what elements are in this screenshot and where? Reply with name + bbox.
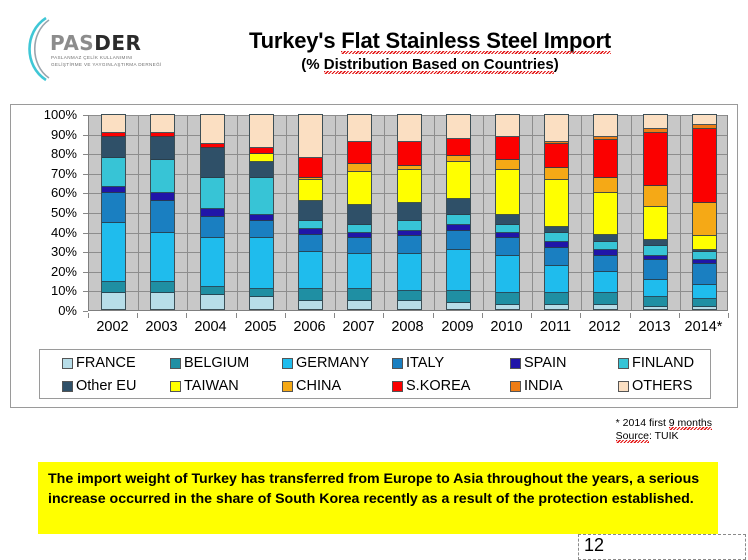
stacked-bar[interactable] [643, 114, 668, 310]
bar-segment [594, 115, 617, 137]
bar-segment [102, 193, 125, 222]
bar-segment [151, 201, 174, 232]
bar-segment [447, 215, 470, 225]
x-axis-tick-mark [236, 313, 237, 318]
plot-area [88, 115, 728, 311]
x-axis-tick-mark [531, 313, 532, 318]
bar-segment [348, 301, 371, 310]
bar-segment [299, 235, 322, 253]
stacked-bar[interactable] [249, 114, 274, 310]
stacked-bar[interactable] [495, 114, 520, 310]
bar-segment [299, 158, 322, 178]
bar-segment [299, 301, 322, 310]
legend-label: BELGIUM [184, 355, 249, 371]
bar-segment [151, 293, 174, 310]
legend-label: ITALY [406, 355, 444, 371]
bar-segment [151, 115, 174, 133]
x-axis-tick-mark [383, 313, 384, 318]
bar-segment [201, 178, 224, 209]
bar-segment [447, 303, 470, 310]
bar-segment [693, 203, 716, 236]
bar-segment [398, 203, 421, 221]
x-axis-tick-label: 2013 [630, 319, 679, 335]
footnote-spellcheck-source: Source [616, 430, 649, 442]
vertical-gridline [384, 116, 385, 310]
x-axis-tick-label: 2004 [186, 319, 235, 335]
logo-subtitle-line2: GELİŞTİRME VE YAYGINLAŞTIRMA DERNEĞİ [51, 62, 162, 67]
bar-segment [496, 115, 519, 137]
bar-segment [250, 221, 273, 239]
bar-segment [151, 160, 174, 193]
x-axis-tick-label: 2003 [137, 319, 186, 335]
y-axis-tick-mark [83, 311, 88, 312]
bar-segment [545, 293, 568, 305]
legend-swatch-icon [392, 358, 403, 369]
bar-segment [201, 295, 224, 310]
bar-segment [447, 231, 470, 251]
bar-segment [102, 115, 125, 133]
y-axis: 0%10%20%30%40%50%60%70%80%90%100% [21, 115, 83, 311]
bar-segment [594, 242, 617, 250]
bar-segment [250, 238, 273, 289]
legend-swatch-icon [62, 381, 73, 392]
stacked-bar[interactable] [101, 114, 126, 310]
legend-item-italy[interactable]: ITALY [392, 351, 444, 375]
legend-swatch-icon [510, 358, 521, 369]
vertical-gridline [434, 116, 435, 310]
bar-segment [348, 142, 371, 164]
legend-item-france[interactable]: FRANCE [62, 351, 136, 375]
y-axis-tick-label: 80% [51, 149, 77, 159]
bar-segment [398, 254, 421, 291]
bar-segment [594, 272, 617, 294]
bar-segment [594, 305, 617, 310]
bar-segment [496, 137, 519, 161]
bar-segment [201, 148, 224, 177]
stacked-bar[interactable] [200, 114, 225, 310]
bar-segment [693, 252, 716, 260]
legend-label: FINLAND [632, 355, 694, 371]
chart-legend: FRANCEBELGIUMGERMANYITALYSPAINFINLAND Ot… [39, 349, 711, 399]
bar-segment [545, 168, 568, 180]
bar-segment [348, 225, 371, 233]
bar-segment [447, 291, 470, 303]
stacked-bar[interactable] [544, 114, 569, 310]
logo-wordmark: PASDER [50, 31, 141, 55]
bar-segment [250, 178, 273, 215]
bar-segment [496, 293, 519, 305]
bar-segment [644, 260, 667, 280]
x-axis-tick-mark [679, 313, 680, 318]
legend-item-others[interactable]: OTHERS [618, 374, 692, 398]
page-subtitle: (% Distribution Based on Countries) [180, 56, 680, 73]
legend-swatch-icon [170, 358, 181, 369]
legend-row-2: Other EUTAIWANCHINAS.KOREAINDIAOTHERS [40, 374, 710, 398]
bar-segment [348, 238, 371, 254]
legend-label: CHINA [296, 378, 341, 394]
vertical-gridline [187, 116, 188, 310]
bar-segment [545, 144, 568, 168]
bar-segment [201, 115, 224, 144]
bar-segment [151, 137, 174, 161]
bar-segment [250, 297, 273, 310]
stacked-bar[interactable] [298, 114, 323, 310]
bar-segment [299, 221, 322, 229]
pasder-logo: PASDER PASLANMAZ ÇELİK KULLANIMINI GELİŞ… [18, 14, 178, 84]
x-axis-tick-mark [482, 313, 483, 318]
y-axis-tick-label: 50% [51, 208, 77, 218]
bar-segment [447, 250, 470, 291]
bar-segment [348, 205, 371, 225]
vertical-gridline [138, 116, 139, 310]
stacked-bar[interactable] [397, 114, 422, 310]
legend-label: INDIA [524, 378, 563, 394]
x-axis-tick-mark [88, 313, 89, 318]
plot-wrap: 0%10%20%30%40%50%60%70%80%90%100% 200220… [11, 109, 739, 339]
legend-swatch-icon [282, 358, 293, 369]
slide-header: PASDER PASLANMAZ ÇELİK KULLANIMINI GELİŞ… [0, 0, 748, 100]
bar-segment [545, 248, 568, 266]
bar-segment [299, 201, 322, 221]
bar-segment [201, 238, 224, 287]
bar-segment [693, 285, 716, 299]
bar-segment [250, 115, 273, 148]
bar-segment [348, 254, 371, 289]
bar-segment [151, 282, 174, 294]
x-axis-tick-mark [137, 313, 138, 318]
bar-segment [447, 199, 470, 215]
bar-segment [151, 193, 174, 201]
footnote-line-2: Source: TUIK [616, 430, 712, 443]
bar-segment [644, 133, 667, 186]
bar-segment [594, 178, 617, 194]
bar-segment [644, 280, 667, 298]
bar-segment [299, 180, 322, 202]
legend-item-finland[interactable]: FINLAND [618, 351, 694, 375]
bar-segment [693, 236, 716, 250]
x-axis: 2002200320042005200620072008200920102011… [88, 313, 728, 339]
vertical-gridline [631, 116, 632, 310]
bar-segment [250, 162, 273, 178]
bar-segment [693, 299, 716, 307]
logo-wordmark-pas: PAS [50, 31, 94, 55]
logo-subtitle-line1: PASLANMAZ ÇELİK KULLANIMINI [51, 55, 133, 60]
bar-segment [545, 305, 568, 310]
x-axis-tick-label: 2009 [433, 319, 482, 335]
bar-segment [398, 221, 421, 231]
bar-segment [644, 246, 667, 256]
bar-segment [496, 170, 519, 215]
bar-segment [545, 233, 568, 243]
legend-item-taiwan[interactable]: TAIWAN [170, 374, 239, 398]
bar-segment [398, 142, 421, 166]
legend-swatch-icon [282, 381, 293, 392]
bar-segment [348, 115, 371, 142]
legend-label: FRANCE [76, 355, 136, 371]
y-axis-tick-label: 40% [51, 228, 77, 238]
bar-segment [102, 137, 125, 159]
y-axis-tick-label: 100% [44, 110, 77, 120]
vertical-gridline [286, 116, 287, 310]
bar-segment [496, 225, 519, 233]
bar-segment [102, 282, 125, 294]
bar-segment [693, 264, 716, 286]
page-number: 12 [584, 535, 604, 556]
stacked-bar[interactable] [446, 114, 471, 310]
stacked-bar[interactable] [150, 114, 175, 310]
vertical-gridline [335, 116, 336, 310]
legend-label: GERMANY [296, 355, 369, 371]
bar-segment [644, 115, 667, 129]
vertical-gridline [581, 116, 582, 310]
x-axis-tick-mark [580, 313, 581, 318]
bar-segment [398, 170, 421, 203]
bar-segment [151, 233, 174, 282]
vertical-gridline [237, 116, 238, 310]
x-axis-tick-mark [186, 313, 187, 318]
bar-segment [398, 236, 421, 254]
bar-segment [545, 266, 568, 293]
bar-segment [496, 215, 519, 225]
x-axis-tick-label: 2005 [236, 319, 285, 335]
vertical-gridline [483, 116, 484, 310]
bar-segment [102, 293, 125, 310]
y-axis-tick-label: 70% [51, 169, 77, 179]
logo-arc-icon [18, 16, 52, 82]
x-axis-tick-mark [433, 313, 434, 318]
legend-item-india[interactable]: INDIA [510, 374, 563, 398]
x-axis-tick-mark [285, 313, 286, 318]
bar-segment [398, 291, 421, 301]
legend-swatch-icon [62, 358, 73, 369]
bar-segment [348, 164, 371, 172]
page-title-spellcheck-part: Flat Stainless Steel Import [341, 28, 611, 53]
x-axis-tick-label: 2014* [679, 319, 728, 335]
y-axis-tick-label: 30% [51, 247, 77, 257]
bar-segment [250, 289, 273, 297]
bar-segment [496, 238, 519, 256]
bar-segment [644, 207, 667, 240]
chart-panel: 0%10%20%30%40%50%60%70%80%90%100% 200220… [10, 104, 738, 408]
x-axis-tick-label: 2006 [285, 319, 334, 335]
vertical-gridline [680, 116, 681, 310]
x-axis-tick-label: 2008 [383, 319, 432, 335]
bar-segment [545, 115, 568, 142]
legend-item-china[interactable]: CHINA [282, 374, 341, 398]
bar-segment [299, 115, 322, 158]
legend-item-spain[interactable]: SPAIN [510, 351, 566, 375]
legend-swatch-icon [170, 381, 181, 392]
legend-swatch-icon [618, 381, 629, 392]
stacked-bar[interactable] [692, 114, 717, 310]
bar-segment [398, 301, 421, 310]
highlight-text: The import weight of Turkey has transfer… [48, 470, 708, 509]
logo-wordmark-der: DER [94, 31, 141, 55]
bar-segment [201, 217, 224, 239]
bar-segment [447, 115, 470, 139]
bar-segment [447, 139, 470, 157]
bar-segment [693, 307, 716, 310]
bar-segment [545, 180, 568, 227]
y-axis-tick-label: 60% [51, 188, 77, 198]
page-subtitle-spellcheck-part: Distribution Based on Countries [324, 56, 554, 73]
y-axis-tick-label: 0% [58, 306, 77, 316]
legend-row-1: FRANCEBELGIUMGERMANYITALYSPAINFINLAND [40, 351, 710, 375]
bar-segment [348, 172, 371, 205]
footnote-line-1: * 2014 first 9 months [616, 417, 712, 430]
bar-segment [299, 289, 322, 301]
x-axis-tick-mark [728, 313, 729, 318]
stacked-bar[interactable] [593, 114, 618, 310]
legend-label: SPAIN [524, 355, 566, 371]
legend-item-germany[interactable]: GERMANY [282, 351, 369, 375]
legend-swatch-icon [510, 381, 521, 392]
bar-segment [496, 256, 519, 293]
bar-segment [496, 305, 519, 310]
legend-item-s-korea[interactable]: S.KOREA [392, 374, 470, 398]
bar-segment [644, 307, 667, 310]
page-title: Turkey's Flat Stainless Steel Import [180, 28, 680, 54]
y-axis-tick-label: 10% [51, 286, 77, 296]
bar-segment [447, 162, 470, 199]
bar-segment [250, 154, 273, 162]
x-axis-tick-label: 2012 [580, 319, 629, 335]
bar-segment [594, 256, 617, 272]
bar-segment [201, 209, 224, 217]
bar-segment [594, 235, 617, 243]
vertical-gridline [532, 116, 533, 310]
x-axis-tick-label: 2002 [88, 319, 137, 335]
legend-label: OTHERS [632, 378, 692, 394]
legend-label: Other EU [76, 378, 136, 394]
legend-item-other-eu[interactable]: Other EU [62, 374, 136, 398]
bar-segment [594, 293, 617, 305]
x-axis-tick-label: 2010 [482, 319, 531, 335]
chart-footnote: * 2014 first 9 months Source: TUIK [616, 417, 712, 443]
bar-segment [398, 115, 421, 142]
bar-segment [693, 115, 716, 125]
stacked-bar[interactable] [347, 114, 372, 310]
bar-segment [201, 287, 224, 295]
footnote-spellcheck-months: 9 months [669, 417, 712, 429]
y-axis-tick-label: 90% [51, 130, 77, 140]
legend-swatch-icon [618, 358, 629, 369]
bar-segment [644, 186, 667, 208]
x-axis-tick-label: 2011 [531, 319, 580, 335]
bar-segment [594, 140, 617, 177]
bar-segment [299, 252, 322, 289]
bar-segment [496, 160, 519, 170]
bar-segment [102, 223, 125, 282]
legend-label: TAIWAN [184, 378, 239, 394]
title-block: Turkey's Flat Stainless Steel Import (% … [180, 28, 680, 73]
bar-segment [102, 158, 125, 187]
bar-segment [693, 129, 716, 203]
bar-segment [644, 297, 667, 307]
x-axis-tick-mark [630, 313, 631, 318]
legend-swatch-icon [392, 381, 403, 392]
x-axis-tick-label: 2007 [334, 319, 383, 335]
highlight-box: The import weight of Turkey has transfer… [38, 462, 718, 534]
legend-item-belgium[interactable]: BELGIUM [170, 351, 249, 375]
bar-segment [594, 193, 617, 234]
x-axis-tick-mark [334, 313, 335, 318]
y-axis-tick-label: 20% [51, 267, 77, 277]
legend-label: S.KOREA [406, 378, 470, 394]
bar-segment [348, 289, 371, 301]
